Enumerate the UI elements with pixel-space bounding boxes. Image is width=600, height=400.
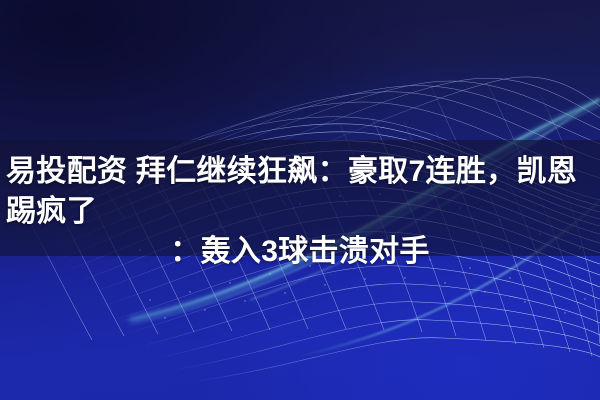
headline-line-1: 易投配资 拜仁继续狂飙：豪取7连胜，凯恩踢疯了 <box>6 152 594 232</box>
headline-text: 易投配资 拜仁继续狂飙：豪取7连胜，凯恩踢疯了 ：轰入3球击溃对手 <box>0 152 600 272</box>
headline-line-2: ：轰入3球击溃对手 <box>6 232 594 272</box>
banner-image: 易投配资 拜仁继续狂飙：豪取7连胜，凯恩踢疯了 ：轰入3球击溃对手 <box>0 0 600 400</box>
